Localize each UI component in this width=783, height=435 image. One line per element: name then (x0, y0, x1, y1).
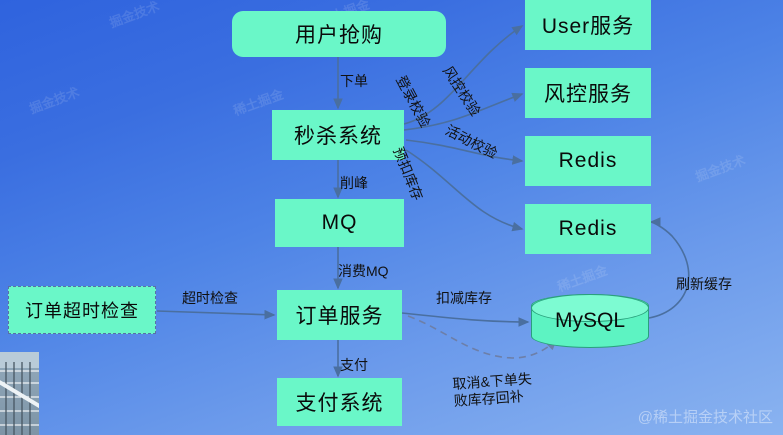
edge-label-activity-check: 活动校验 (442, 120, 501, 163)
node-order-timeout-check-label: 订单超时检查 (25, 297, 139, 323)
edge-label-consume-mq: 消费MQ (338, 261, 389, 281)
edge-label-pay: 支付 (340, 355, 368, 375)
photo-post (13, 362, 15, 435)
node-order-timeout-check[interactable]: 订单超时检查 (8, 286, 156, 334)
node-user-buy[interactable]: 用户抢购 (232, 11, 446, 57)
node-order-service[interactable]: 订单服务 (277, 290, 402, 340)
watermark-tile: 掘金技术 (692, 150, 747, 186)
diagram-canvas: 掘金技术 稀土掘金 掘金技术 稀土掘金 掘金技术 稀土掘金 (0, 0, 783, 435)
node-redis-secondary[interactable]: Redis (525, 204, 651, 254)
node-redis-primary-label: Redis (559, 149, 618, 173)
watermark-tile: 掘金技术 (106, 0, 161, 31)
node-order-service-label: 订单服务 (296, 300, 384, 330)
edge-label-stock-rollback: 取消&下单失 败库存回补 (452, 370, 534, 409)
edge-label-deduct-stock: 扣减库存 (436, 288, 492, 308)
node-mysql-database-label: MySQL (555, 309, 625, 333)
node-redis-primary[interactable]: Redis (525, 136, 651, 186)
node-seckill-system-label: 秒杀系统 (294, 120, 382, 150)
watermark-tile: 稀土掘金 (554, 260, 609, 296)
edge-label-peak-shaving: 削峰 (340, 173, 368, 193)
node-payment-system[interactable]: 支付系统 (277, 378, 402, 426)
node-risk-service-label: 风控服务 (544, 78, 632, 108)
edge-label-pre-deduct-stock: 预扣库存 (388, 144, 428, 203)
edge-label-risk-check: 风控校验 (438, 62, 485, 120)
photo-thumbnail (0, 352, 39, 435)
node-risk-service[interactable]: 风控服务 (525, 68, 651, 118)
node-user-service-label: User服务 (542, 10, 634, 40)
watermark-credit: @稀土掘金技术社区 (638, 406, 773, 427)
node-user-buy-label: 用户抢购 (295, 19, 383, 49)
node-user-service[interactable]: User服务 (525, 0, 651, 50)
photo-post (5, 362, 7, 435)
node-redis-secondary-label: Redis (559, 217, 618, 241)
edge-order-to-mysql (402, 313, 528, 322)
node-seckill-system[interactable]: 秒杀系统 (272, 110, 404, 160)
edge-label-place-order: 下单 (340, 71, 368, 91)
edge-mysql-to-redis-refresh (649, 222, 689, 318)
node-mq[interactable]: MQ (275, 199, 404, 247)
edge-label-refresh-cache: 刷新缓存 (676, 274, 732, 294)
watermark-tile: 掘金技术 (26, 82, 81, 118)
edge-label-timeout-check: 超时检查 (182, 288, 238, 308)
node-payment-system-label: 支付系统 (296, 387, 384, 417)
node-mq-label: MQ (322, 211, 358, 235)
node-mysql-database[interactable]: MySQL (531, 294, 649, 348)
edge-timeout-to-order-service (157, 311, 274, 315)
